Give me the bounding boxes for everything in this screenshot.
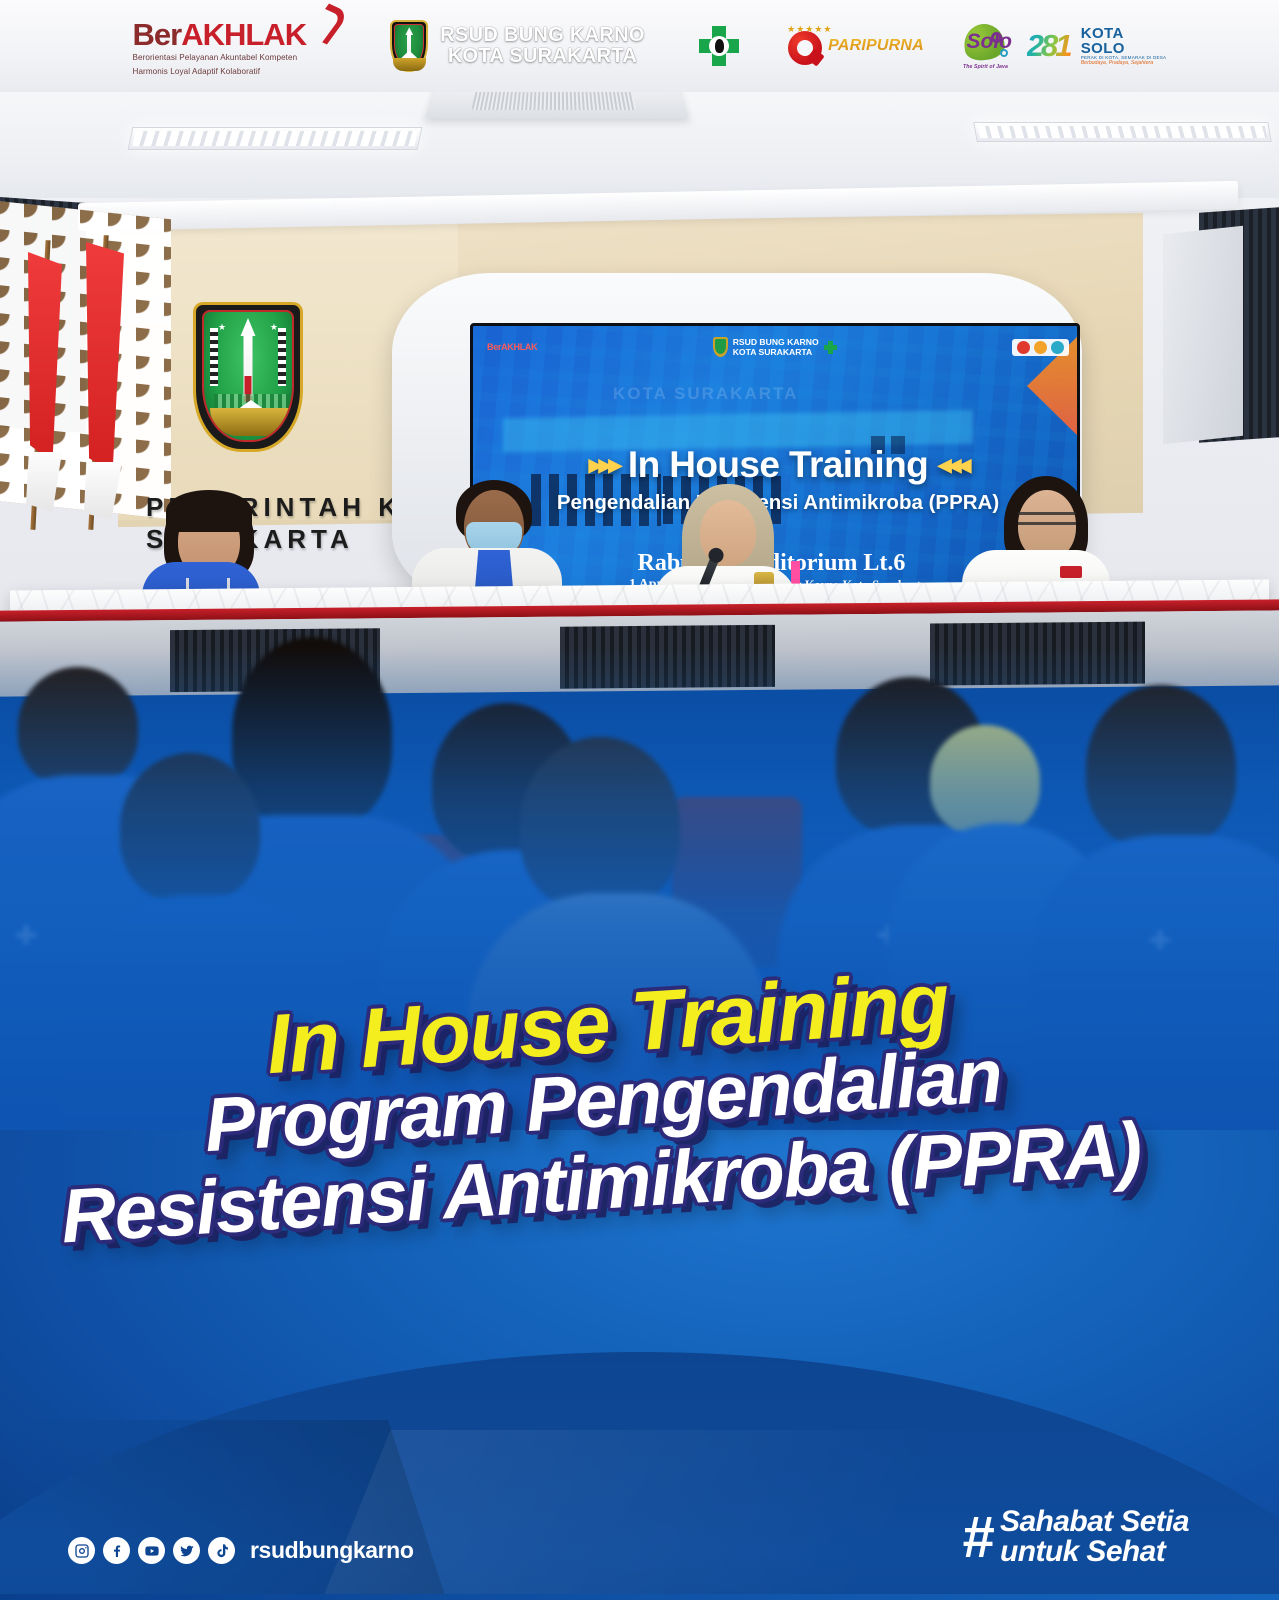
screen-title-row: ▶▶▶ In House Training ◀◀◀	[473, 444, 1080, 486]
facebook-icon[interactable]	[103, 1537, 130, 1564]
tagline-line1: Sahabat Setia	[1000, 1507, 1189, 1538]
header-logo-band: BerAKHLAK Berorientasi Pelayanan Akuntab…	[0, 0, 1279, 92]
logo-kota-solo: 281 KOTA SOLO PERAK DI KOTA, SEMARAK DI …	[1022, 0, 1172, 92]
bottom-strip	[0, 1594, 1279, 1600]
green-cross-icon	[699, 26, 739, 66]
screen-watermark: KOTA SURAKARTA	[613, 384, 798, 404]
eyeglasses	[1018, 512, 1076, 525]
paripurna-label: PARIPURNA	[828, 37, 924, 55]
logo-solo-spirit-of-java: Solo The Spirit of Java	[950, 0, 1022, 92]
screen-arrow-left: ▶▶▶	[589, 455, 619, 475]
screen-green-cross-icon	[824, 341, 837, 354]
kota-solo-line2: SOLO	[1081, 41, 1167, 56]
instagram-icon[interactable]	[68, 1537, 95, 1564]
berakhlak-tagline-1: Berorientasi Pelayanan Akuntabel Kompete…	[133, 53, 333, 64]
ceiling-light-left	[128, 127, 423, 150]
kota-solo-line1: KOTA	[1081, 26, 1167, 41]
twitter-icon[interactable]	[173, 1537, 200, 1564]
tiktok-icon[interactable]	[208, 1537, 235, 1564]
paripurna-q-icon: ★★★★★	[785, 26, 825, 66]
social-links[interactable]: rsudbungkarno	[68, 1537, 413, 1564]
kota-solo-motto: Berbudaya, Pradaya, Sejahtera	[1081, 61, 1167, 66]
decorative-lattice	[0, 201, 171, 519]
surakarta-crest-icon	[390, 20, 428, 72]
tagline-line2: untuk Sehat	[1000, 1537, 1189, 1568]
tagline-block: # Sahabat Setia untuk Sehat	[962, 1507, 1189, 1568]
logo-berakhlak: BerAKHLAK Berorientasi Pelayanan Akuntab…	[108, 0, 358, 92]
hospital-name-line1: RSUD BUNG KARNO	[440, 25, 645, 46]
screen-hospital-line1: RSUD BUNG KARNO	[733, 337, 819, 347]
wall-column-right	[1163, 226, 1243, 444]
poster-root: BerAKHLAK Berorientasi Pelayanan Akuntab…	[0, 0, 1279, 1600]
screen-arrow-right: ◀◀◀	[938, 455, 968, 475]
hospital-name-line2: KOTA SURAKARTA	[440, 46, 645, 67]
berakhlak-tagline-2: Harmonis Loyal Adaptif Kolaboratif	[133, 67, 333, 78]
berakhlak-prefix: Ber	[133, 17, 182, 52]
logo-paripurna: ★★★★★ PARIPURNA	[760, 0, 950, 92]
berakhlak-suffix: AKHLAK	[181, 17, 306, 52]
footer: rsudbungkarno # Sahabat Setia untuk Seha…	[0, 1480, 1279, 1600]
ceiling-light-right	[973, 122, 1272, 142]
kota-solo-anniversary-number: 281	[1027, 23, 1079, 69]
screen-berakhlak-logo: BerAKHLAK	[487, 342, 537, 352]
screen-crest-icon	[713, 337, 728, 357]
social-handle: rsudbungkarno	[250, 1537, 413, 1564]
screen-title: In House Training	[628, 444, 928, 485]
logo-kars-accreditation	[678, 0, 760, 92]
surakarta-government-emblem: ★ ★	[193, 302, 303, 452]
hashtag-icon: #	[962, 1513, 990, 1562]
solo-tagline: The Spirit of Java	[958, 64, 1014, 70]
logo-rsud-bung-karno: RSUD BUNG KARNO KOTA SURAKARTA	[358, 0, 678, 92]
youtube-icon[interactable]	[138, 1537, 165, 1564]
screen-hospital-line2: KOTA SURAKARTA	[733, 347, 819, 357]
name-tag	[1060, 566, 1082, 578]
screen-partner-logos	[1012, 339, 1069, 356]
screen-subtitle: Pengendalian Resistensi Antimikroba (PPR…	[473, 491, 1080, 515]
